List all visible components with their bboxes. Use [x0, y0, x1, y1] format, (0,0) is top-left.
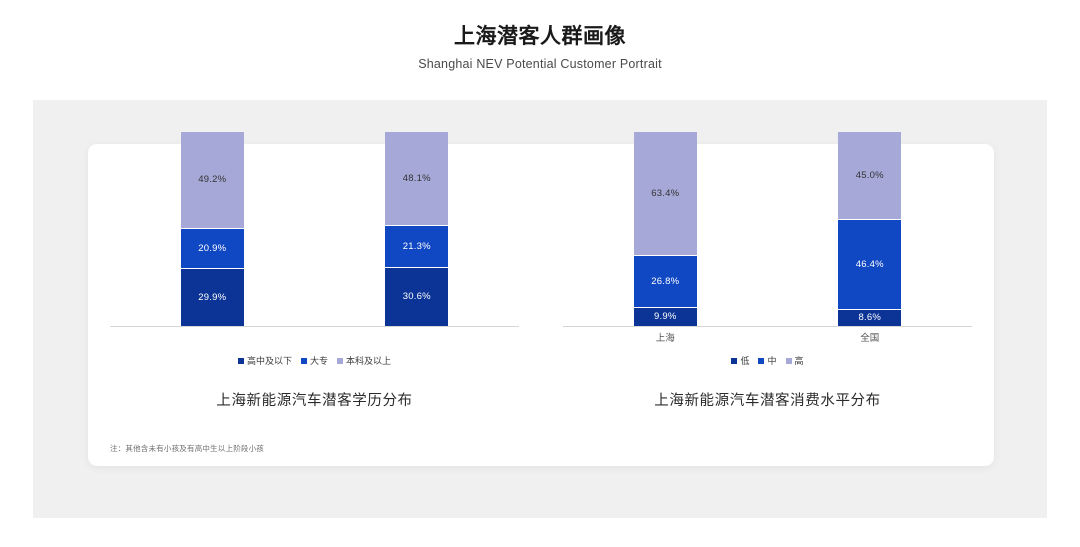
bar-segment: 49.2% — [181, 132, 244, 227]
bar-segment: 20.9% — [181, 228, 244, 268]
stacked-bar: 63.4%26.8%9.9% — [634, 132, 697, 326]
x-tick-labels-consumption: 上海全国 — [563, 330, 972, 344]
legend-label: 本科及以上 — [346, 354, 391, 367]
stacked-bar: 48.1%21.3%30.6% — [385, 132, 448, 326]
chart-card: 49.2%20.9%29.9%48.1%21.3%30.6% 高中及以下大专本科… — [88, 144, 994, 466]
bar-segment-value: 48.1% — [403, 174, 431, 184]
legend-item[interactable]: 本科及以上 — [337, 354, 391, 367]
bar-segment: 45.0% — [838, 132, 901, 219]
x-axis-line-education — [110, 326, 519, 327]
bar-segment: 63.4% — [634, 132, 697, 255]
chart-title-education: 上海新能源汽车潜客学历分布 — [88, 389, 541, 410]
legend-swatch-icon — [758, 358, 764, 364]
plot-area-education: 49.2%20.9%29.9%48.1%21.3%30.6% — [88, 177, 541, 327]
bar-segment: 8.6% — [838, 309, 901, 326]
legend-label: 高 — [795, 354, 804, 367]
page-subtitle: Shanghai NEV Potential Customer Portrait — [0, 57, 1080, 71]
legend-swatch-icon — [337, 358, 343, 364]
legend-item[interactable]: 中 — [758, 354, 776, 367]
bar-segment-value: 9.9% — [654, 312, 676, 322]
bar-segment-value: 20.9% — [198, 244, 226, 254]
legend-swatch-icon — [731, 358, 737, 364]
bar-segment: 29.9% — [181, 268, 244, 326]
legend-item[interactable]: 大专 — [301, 354, 328, 367]
page-title: 上海潜客人群画像 — [0, 24, 1080, 50]
legend-item[interactable]: 高中及以下 — [238, 354, 292, 367]
legend-label: 大专 — [310, 354, 328, 367]
page-root: 上海潜客人群画像 Shanghai NEV Potential Customer… — [0, 0, 1080, 547]
bars-consumption: 63.4%26.8%9.9%45.0%46.4%8.6% — [563, 177, 972, 326]
legend-label: 高中及以下 — [247, 354, 292, 367]
legend-item[interactable]: 高 — [786, 354, 804, 367]
stacked-bar: 49.2%20.9%29.9% — [181, 132, 244, 326]
bar-segment: 26.8% — [634, 255, 697, 307]
chart-title-consumption: 上海新能源汽车潜客消费水平分布 — [541, 389, 994, 410]
bar-segment-value: 46.4% — [856, 260, 884, 270]
chart-education: 49.2%20.9%29.9%48.1%21.3%30.6% 高中及以下大专本科… — [88, 144, 541, 466]
bar-segment-value: 49.2% — [198, 175, 226, 185]
bar-segment-value: 26.8% — [651, 277, 679, 287]
bar-segment-value: 30.6% — [403, 292, 431, 302]
bar-segment-value: 21.3% — [403, 242, 431, 252]
bars-education: 49.2%20.9%29.9%48.1%21.3%30.6% — [110, 177, 519, 326]
legend-swatch-icon — [238, 358, 244, 364]
plot-area-consumption: 63.4%26.8%9.9%45.0%46.4%8.6% — [541, 177, 994, 327]
bar-segment: 48.1% — [385, 132, 448, 225]
legend-consumption: 低中高 — [541, 354, 994, 367]
bar-segment-value: 45.0% — [856, 171, 884, 181]
legend-label: 中 — [767, 354, 776, 367]
bar-segment: 46.4% — [838, 219, 901, 309]
x-tick-label: 上海 — [634, 330, 697, 344]
legend-swatch-icon — [301, 358, 307, 364]
bar-segment-value: 8.6% — [859, 313, 881, 323]
bar-segment-value: 29.9% — [198, 293, 226, 303]
x-axis-line-consumption — [563, 326, 972, 327]
charts-container: 49.2%20.9%29.9%48.1%21.3%30.6% 高中及以下大专本科… — [88, 144, 994, 466]
content-panel: 49.2%20.9%29.9%48.1%21.3%30.6% 高中及以下大专本科… — [33, 100, 1047, 518]
bar-segment-value: 63.4% — [651, 189, 679, 199]
bar-segment: 21.3% — [385, 225, 448, 266]
x-tick-label: 全国 — [838, 330, 901, 344]
bar-segment: 30.6% — [385, 267, 448, 326]
chart-consumption: 63.4%26.8%9.9%45.0%46.4%8.6% 上海全国 低中高 上海… — [541, 144, 994, 466]
legend-item[interactable]: 低 — [731, 354, 749, 367]
legend-label: 低 — [740, 354, 749, 367]
stacked-bar: 45.0%46.4%8.6% — [838, 132, 901, 326]
bar-segment: 9.9% — [634, 307, 697, 326]
legend-swatch-icon — [786, 358, 792, 364]
legend-education: 高中及以下大专本科及以上 — [88, 354, 541, 367]
footnote: 注：其他含未有小孩及有高中生以上阶段小孩 — [110, 443, 264, 454]
page-header: 上海潜客人群画像 Shanghai NEV Potential Customer… — [0, 0, 1080, 71]
